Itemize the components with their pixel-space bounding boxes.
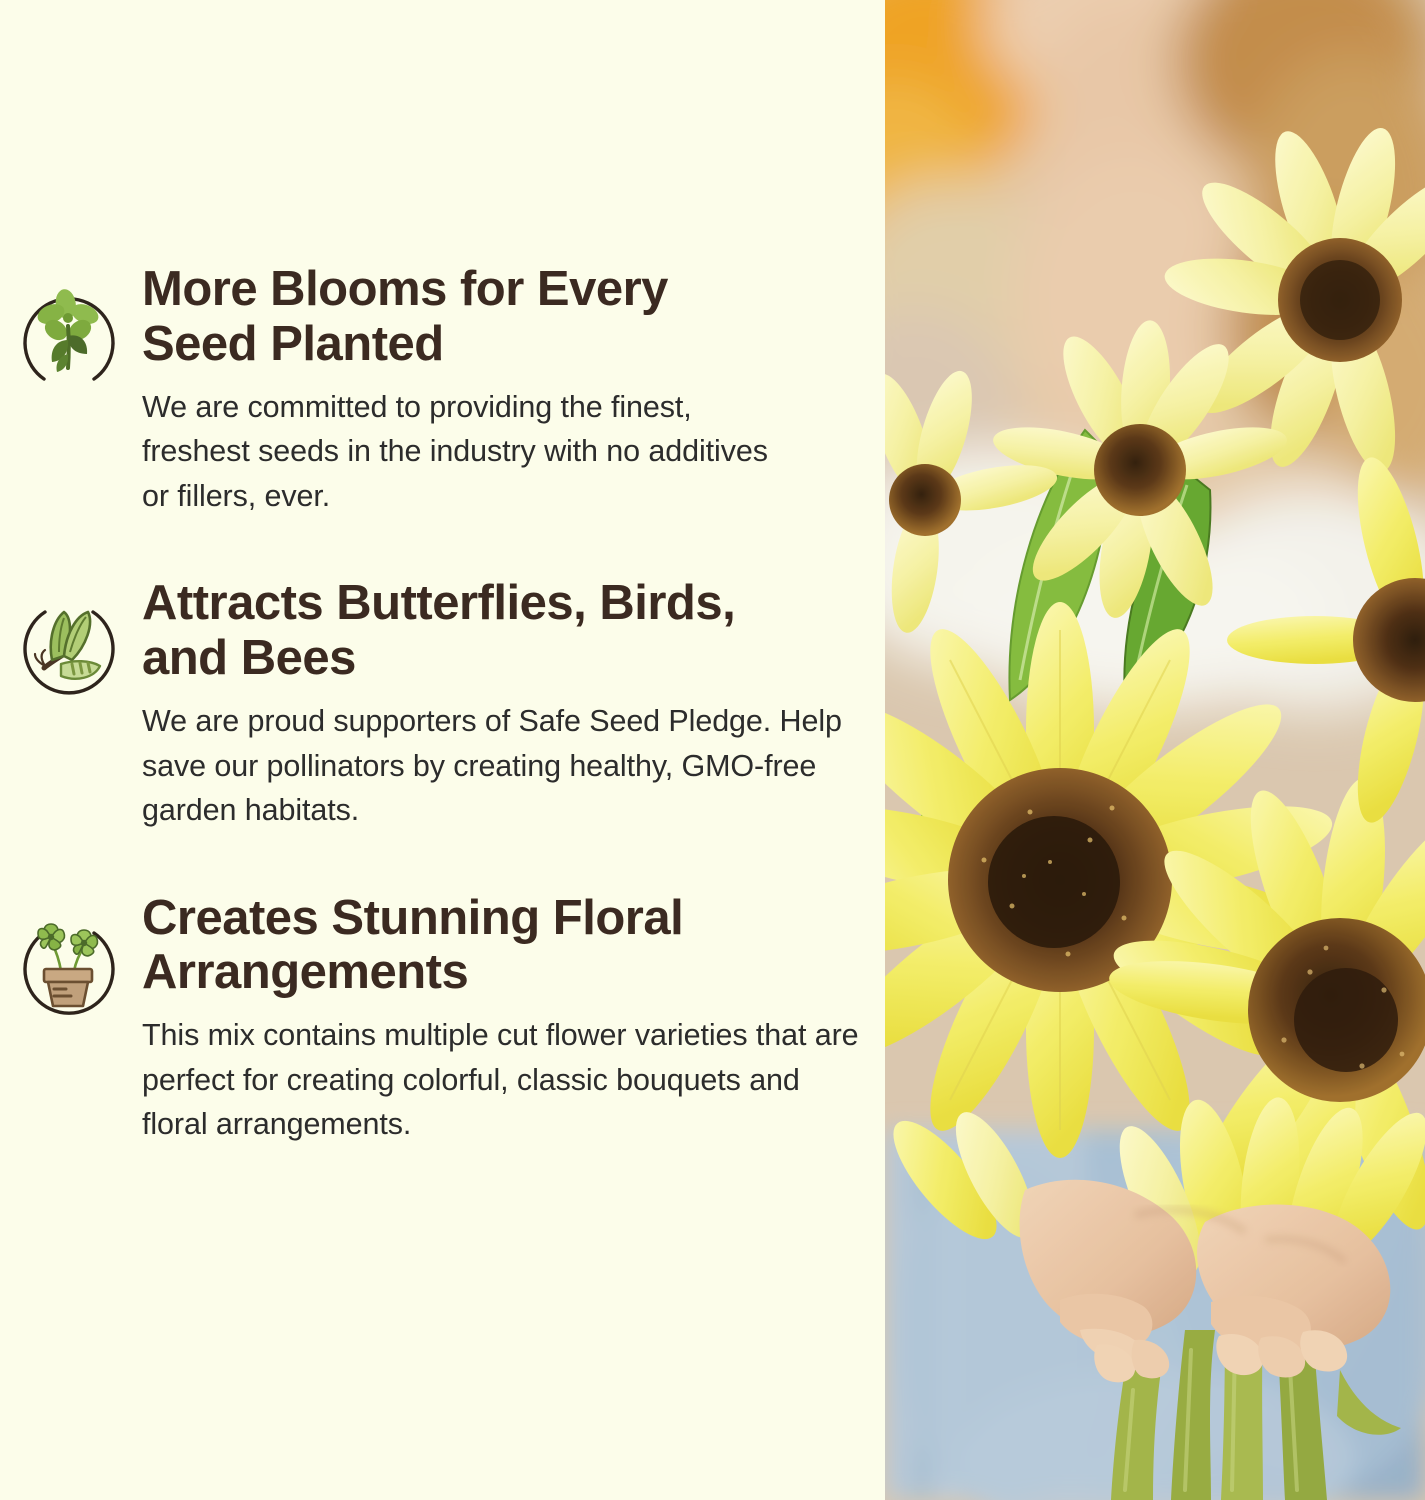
- sunflower-bouquet-photo: [885, 0, 1425, 1500]
- feature-title: More Blooms for Every Seed Planted: [142, 262, 702, 372]
- feature-title: Creates Stunning Floral Arrangements: [142, 891, 842, 1001]
- flower-in-circle-icon: [14, 280, 124, 392]
- feature-item-floral-arrangements: Creates Stunning Floral Arrangements Thi…: [0, 891, 885, 1147]
- feature-text-block: Creates Stunning Floral Arrangements Thi…: [124, 891, 885, 1147]
- feature-description: We are proud supporters of Safe Seed Ple…: [142, 699, 842, 833]
- features-panel: More Blooms for Every Seed Planted We ar…: [0, 0, 885, 1500]
- feature-text-block: Attracts Butterflies, Birds, and Bees We…: [124, 576, 885, 832]
- butterfly-in-circle-icon: [14, 594, 124, 706]
- feature-item-more-blooms: More Blooms for Every Seed Planted We ar…: [0, 262, 885, 518]
- feature-text-block: More Blooms for Every Seed Planted We ar…: [124, 262, 885, 518]
- feature-description: We are committed to providing the finest…: [142, 385, 802, 519]
- product-feature-panel: More Blooms for Every Seed Planted We ar…: [0, 0, 1425, 1500]
- potted-plant-in-circle-icon: [14, 909, 124, 1021]
- features-list: More Blooms for Every Seed Planted We ar…: [0, 262, 885, 1147]
- feature-description: This mix contains multiple cut flower va…: [142, 1013, 861, 1147]
- feature-item-attracts-pollinators: Attracts Butterflies, Birds, and Bees We…: [0, 576, 885, 832]
- feature-title: Attracts Butterflies, Birds, and Bees: [142, 576, 742, 686]
